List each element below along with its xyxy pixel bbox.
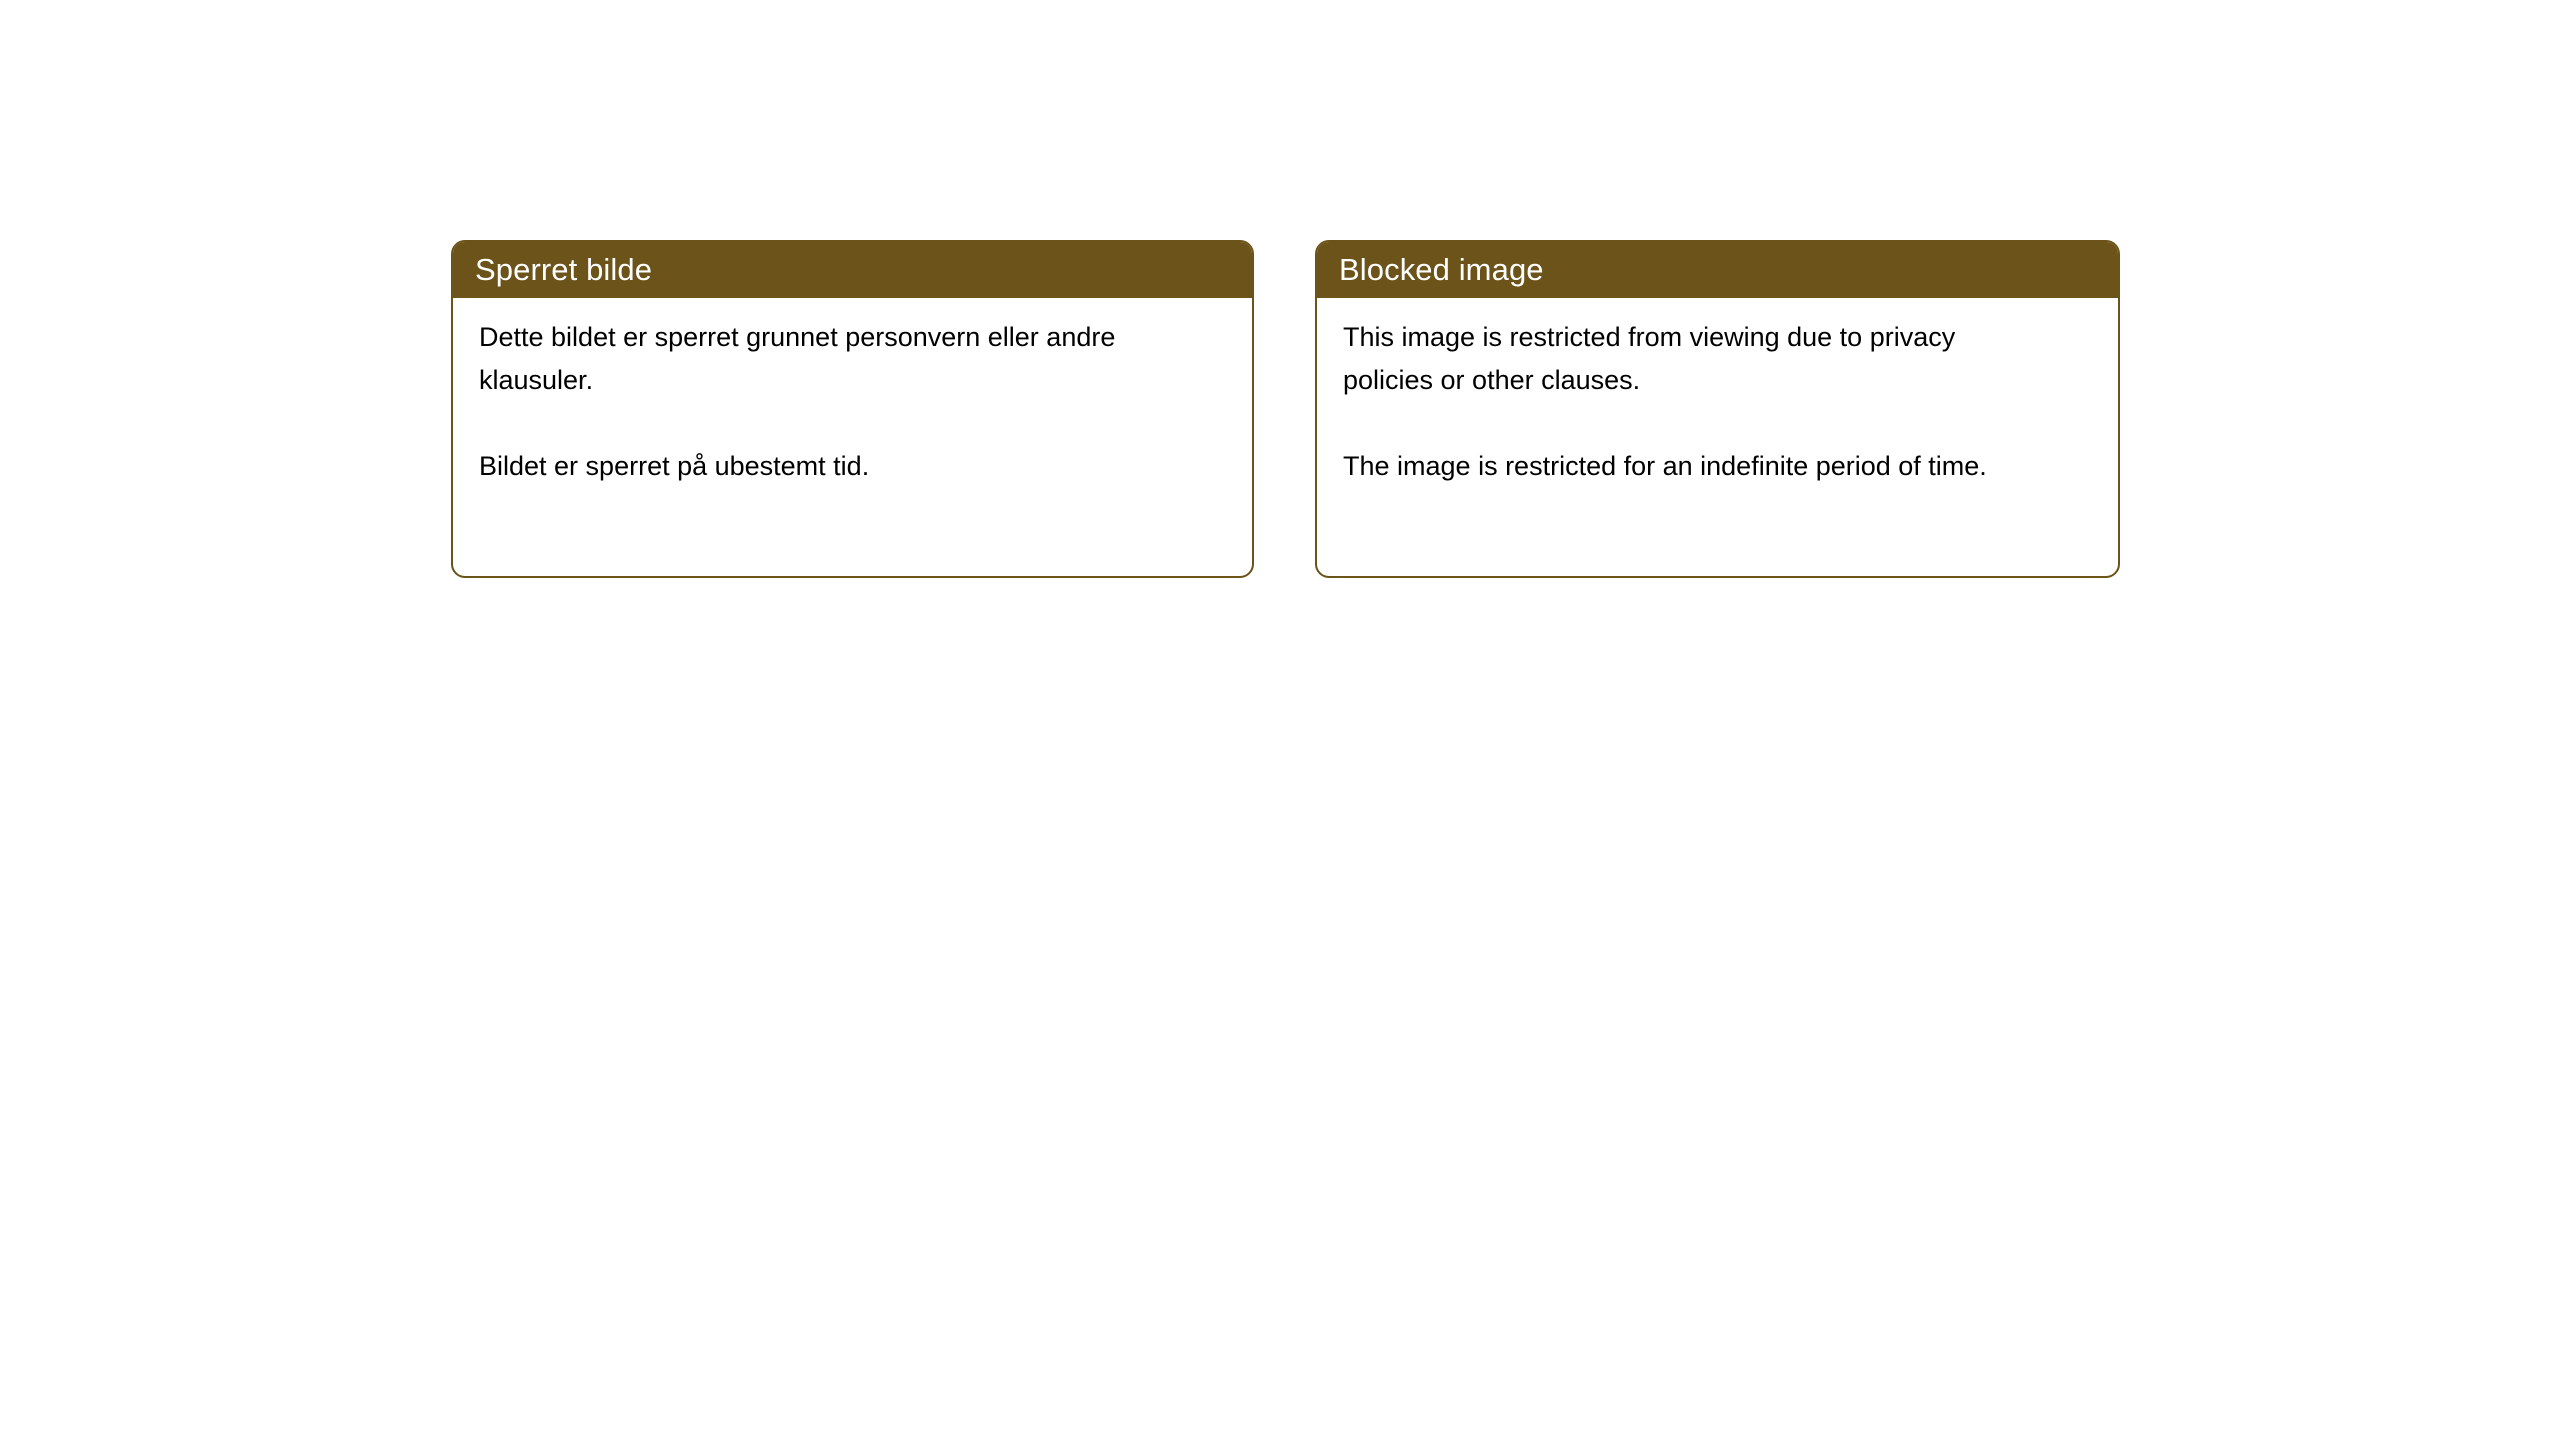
card-title-english: Blocked image — [1339, 254, 1544, 285]
card-header-english: Blocked image — [1315, 240, 2120, 298]
card-title-norwegian: Sperret bilde — [475, 254, 652, 285]
blocked-image-notice-norwegian: Sperret bilde Dette bildet er sperret gr… — [451, 240, 1254, 578]
card-header-norwegian: Sperret bilde — [451, 240, 1254, 298]
card-paragraph-secondary-norwegian: Bildet er sperret på ubestemt tid. — [479, 445, 1179, 488]
page-canvas: Sperret bilde Dette bildet er sperret gr… — [0, 0, 2560, 1440]
blocked-image-notice-english: Blocked image This image is restricted f… — [1315, 240, 2120, 578]
card-paragraph-primary-english: This image is restricted from viewing du… — [1343, 316, 2043, 402]
card-body-english: This image is restricted from viewing du… — [1317, 298, 2118, 488]
card-body-norwegian: Dette bildet er sperret grunnet personve… — [453, 298, 1252, 488]
card-paragraph-primary-norwegian: Dette bildet er sperret grunnet personve… — [479, 316, 1179, 402]
card-paragraph-secondary-english: The image is restricted for an indefinit… — [1343, 445, 2043, 488]
